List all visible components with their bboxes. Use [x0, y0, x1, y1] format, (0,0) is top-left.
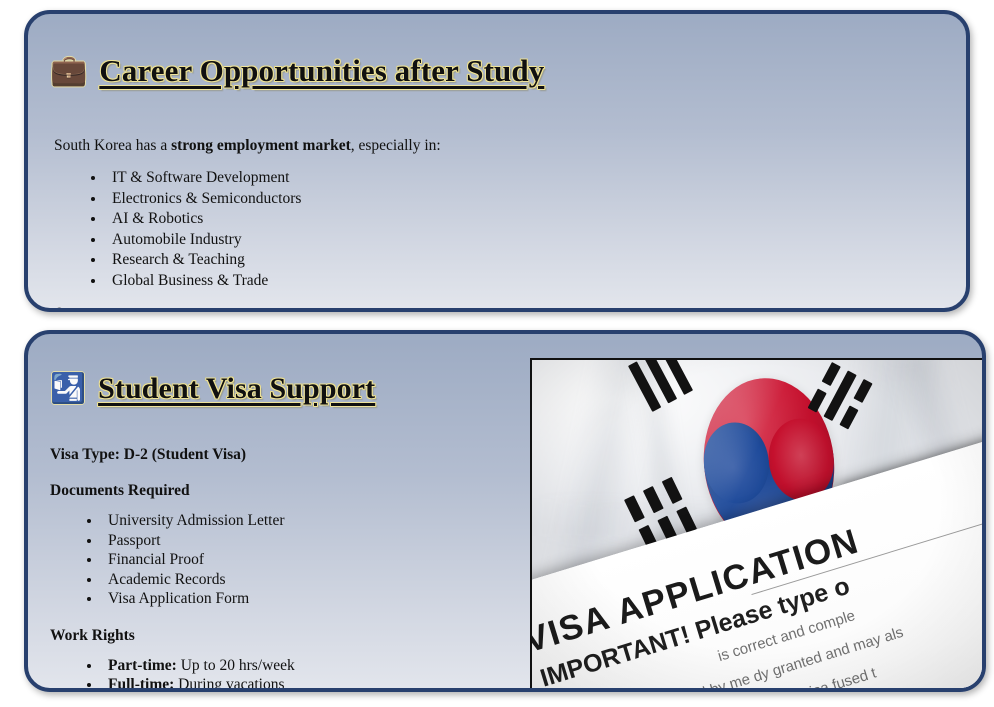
sector-list-item: AI & Robotics	[106, 209, 966, 230]
visa-type-line: Visa Type: D-2 (Student Visa)	[50, 446, 478, 464]
document-list-item: Passport	[102, 531, 478, 551]
visa-text-column: 🛂 Student Visa Support Visa Type: D-2 (S…	[28, 334, 478, 692]
sector-list-item: Automobile Industry	[106, 230, 966, 251]
work-right-list-item: Part-time: Up to 20 hrs/week	[102, 656, 478, 676]
photo-content: VISA APPLICATION IMPORTANT! Please type …	[532, 360, 986, 688]
document-list-item: Academic Records	[102, 570, 478, 590]
sector-list-item: IT & Software Development	[106, 168, 966, 189]
passport-control-icon: 🛂	[50, 375, 86, 404]
career-lead-text: South Korea has a strong employment mark…	[54, 136, 966, 157]
career-note-text: Major recruiters include global giants l…	[76, 308, 705, 312]
work-right-list-item-value: Up to 20 hrs/week	[177, 657, 295, 674]
work-rights-heading: Work Rights	[50, 627, 478, 645]
career-lead-before: South Korea has a	[54, 137, 171, 154]
work-right-list-item: Full-time: During vacations	[102, 675, 478, 692]
career-sector-list: IT & Software DevelopmentElectronics & S…	[28, 168, 966, 291]
visa-application-photo: VISA APPLICATION IMPORTANT! Please type …	[530, 358, 986, 690]
career-card-title: Career Opportunities after Study	[99, 53, 544, 89]
documents-required-heading: Documents Required	[50, 482, 478, 500]
career-opportunities-card: 💼 Career Opportunities after Study South…	[24, 10, 970, 312]
work-right-list-item-value: During vacations	[174, 676, 284, 692]
visa-photo-column	[478, 334, 484, 336]
visa-card-header: 🛂 Student Visa Support	[28, 334, 478, 426]
lightbulb-icon: 💡	[50, 308, 69, 312]
visa-card-title: Student Visa Support	[98, 372, 375, 406]
documents-required-list: University Admission LetterPassportFinan…	[28, 511, 478, 609]
career-note: 💡 Major recruiters include global giants…	[50, 308, 966, 312]
slide-canvas: 💼 Career Opportunities after Study South…	[0, 0, 994, 707]
sector-list-item: Global Business & Trade	[106, 271, 966, 292]
work-right-list-item-label: Part-time:	[108, 657, 177, 674]
career-lead-after: , especially in:	[351, 137, 441, 154]
document-list-item: University Admission Letter	[102, 511, 478, 531]
student-visa-support-card: 🛂 Student Visa Support Visa Type: D-2 (S…	[24, 330, 986, 692]
sector-list-item: Research & Teaching	[106, 250, 966, 271]
work-right-list-item-label: Full-time:	[108, 676, 174, 692]
document-list-item: Visa Application Form	[102, 589, 478, 609]
work-rights-list: Part-time: Up to 20 hrs/weekFull-time: D…	[28, 656, 478, 692]
document-list-item: Financial Proof	[102, 550, 478, 570]
sector-list-item: Electronics & Semiconductors	[106, 189, 966, 210]
career-card-header: 💼 Career Opportunities after Study	[28, 14, 966, 110]
briefcase-icon: 💼	[50, 56, 87, 86]
career-lead-emphasis: strong employment market	[171, 137, 351, 154]
